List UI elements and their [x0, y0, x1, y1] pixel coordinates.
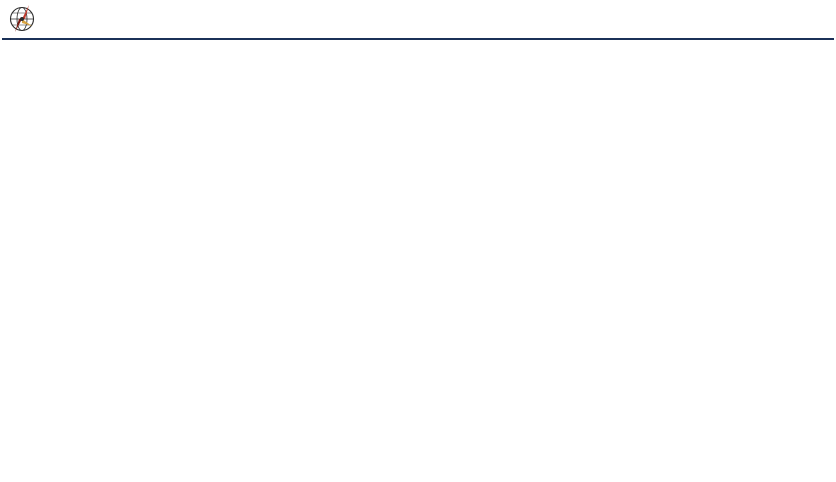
- globe-compass-logo-icon: [6, 2, 38, 34]
- slide-header: [0, 0, 836, 40]
- header-divider: [2, 38, 834, 40]
- brand-logo: [6, 2, 43, 34]
- slide-root: [0, 0, 836, 482]
